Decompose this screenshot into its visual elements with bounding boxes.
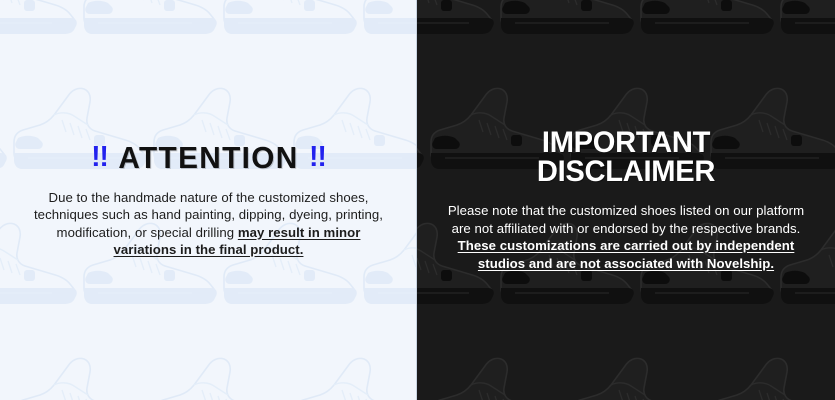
disclaimer-body: Please note that the customized shoes li… [439,202,813,272]
disclaimer-heading-line2: DISCLAIMER [445,157,808,186]
disclaimer-body-emphasis: These customizations are carried out by … [458,238,795,271]
disclaimer-body-normal: Please note that the customized shoes li… [448,203,804,236]
disclaimer-heading: IMPORTANT DISCLAIMER [445,128,808,186]
exclamation-right-icon: !! [309,143,326,172]
exclamation-left-icon: !! [91,143,108,172]
disclaimer-content: IMPORTANT DISCLAIMER Please note that th… [417,128,835,272]
attention-panel: !! ATTENTION !! Due to the handmade natu… [0,0,417,400]
disclaimer-heading-line1: IMPORTANT [445,128,808,157]
panel-divider [416,0,417,400]
attention-content: !! ATTENTION !! Due to the handmade natu… [0,142,417,259]
attention-heading-text: ATTENTION [118,142,298,173]
disclaimer-panel: IMPORTANT DISCLAIMER Please note that th… [417,0,835,400]
attention-body: Due to the handmade nature of the custom… [30,189,387,259]
promo-banner: !! ATTENTION !! Due to the handmade natu… [0,0,835,400]
attention-heading: !! ATTENTION !! [37,142,380,173]
